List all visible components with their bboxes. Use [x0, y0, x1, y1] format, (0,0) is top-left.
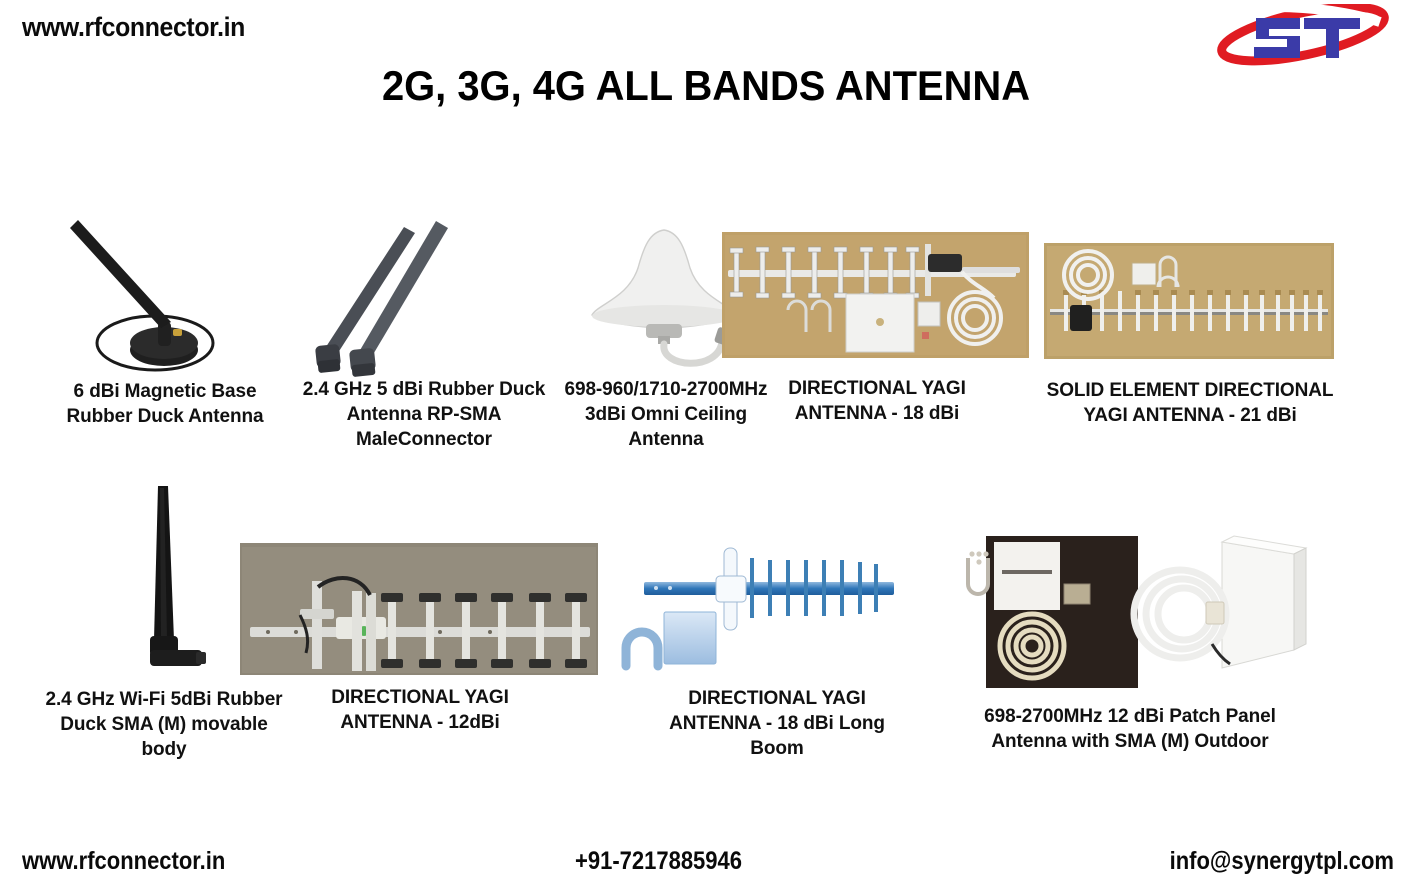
- product-caption: DIRECTIONAL YAGIANTENNA - 12dBi: [240, 685, 600, 735]
- product-caption: 6 dBi Magnetic BaseRubber Duck Antenna: [30, 379, 300, 429]
- header-website-url: www.rfconnector.in: [22, 12, 245, 43]
- product-image: [930, 528, 1330, 700]
- product-image: [612, 540, 942, 680]
- product-card: 2.4 GHz 5 dBi Rubber DuckAntenna RP-SMAM…: [288, 205, 560, 452]
- product-image: [30, 210, 300, 375]
- long-yagi-photo-icon: [1044, 243, 1334, 359]
- product-card: DIRECTIONAL YAGIANTENNA - 18 dBi: [722, 232, 1032, 426]
- product-caption: DIRECTIONAL YAGIANTENNA - 18 dBi: [722, 376, 1032, 426]
- tall-black-antenna-icon: [84, 478, 244, 683]
- product-caption: SOLID ELEMENT DIRECTIONALYAGI ANTENNA - …: [1044, 378, 1336, 428]
- yagi-illustration-blue-icon: [612, 540, 932, 678]
- catalog-page: www.rfconnector.in 2G, 3G, 4G ALL BANDS …: [0, 0, 1412, 890]
- product-card: SOLID ELEMENT DIRECTIONALYAGI ANTENNA - …: [1044, 243, 1336, 428]
- product-image: [722, 232, 1032, 367]
- product-image: [1044, 243, 1336, 367]
- yagi-photo-grey-icon: [240, 543, 598, 675]
- product-card: 6 dBi Magnetic BaseRubber Duck Antenna: [30, 210, 300, 429]
- product-card: DIRECTIONAL YAGIANTENNA - 18 dBi LongBoo…: [612, 540, 942, 761]
- yagi-kit-photo-icon: [722, 232, 1029, 358]
- page-title: 2G, 3G, 4G ALL BANDS ANTENNA: [35, 62, 1376, 110]
- product-image: [288, 205, 560, 377]
- footer-email: info@synergytpl.com: [1170, 847, 1394, 876]
- product-caption: DIRECTIONAL YAGIANTENNA - 18 dBi LongBoo…: [612, 686, 942, 761]
- st-logo-icon: [1208, 4, 1398, 66]
- twin-rubber-duck-icon: [294, 205, 554, 377]
- product-caption: 2.4 GHz 5 dBi Rubber DuckAntenna RP-SMAM…: [288, 377, 560, 452]
- magnetic-base-antenna-icon: [40, 210, 290, 375]
- product-card: 698-2700MHz 12 dBi Patch PanelAntenna wi…: [930, 528, 1330, 754]
- footer-website: www.rfconnector.in: [22, 847, 225, 876]
- patch-panel-photos-icon: [950, 528, 1310, 696]
- product-caption: 698-2700MHz 12 dBi Patch PanelAntenna wi…: [930, 704, 1330, 754]
- company-logo: [1208, 4, 1398, 66]
- footer-phone: +91-7217885946: [575, 847, 742, 876]
- product-image: [240, 543, 600, 677]
- product-card: DIRECTIONAL YAGIANTENNA - 12dBi: [240, 543, 600, 735]
